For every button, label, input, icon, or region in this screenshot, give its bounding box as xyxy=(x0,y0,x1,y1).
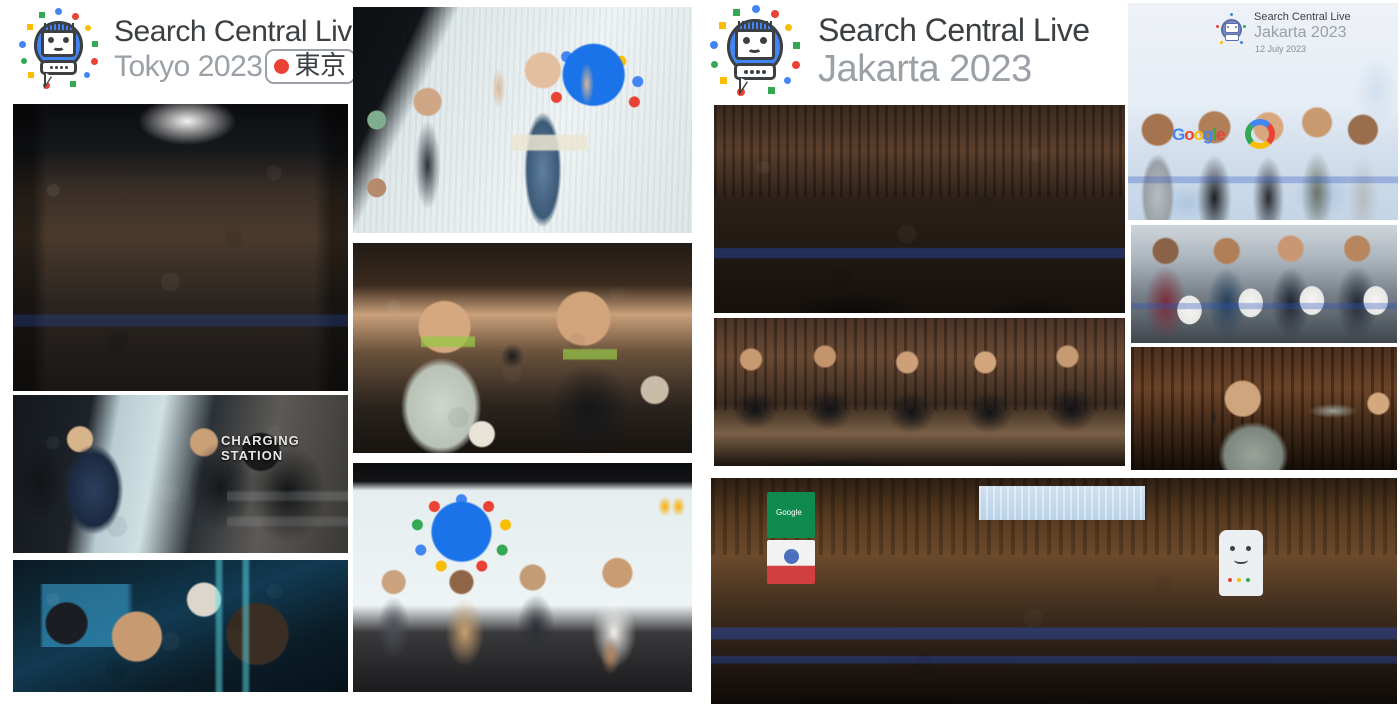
tokyo-title-line2-row: Tokyo 2023 東京 xyxy=(114,49,368,84)
jakarta-backdrop-date: 12 July 2023 xyxy=(1255,44,1306,54)
search-central-mascot-icon xyxy=(706,5,804,99)
japan-flag-dot-icon xyxy=(274,59,289,74)
tokyo-badge-label: 東京 xyxy=(294,52,345,80)
jakarta-audience-waving-photo xyxy=(714,105,1125,313)
jakarta-title-block: Search Central Live Jakarta 2023 xyxy=(818,14,1090,90)
tokyo-yukata-speaker-photo xyxy=(353,7,692,233)
tokyo-charging-station-photo: CHARGING STATION xyxy=(13,395,348,553)
tokyo-logo-lockup: Search Central Live Tokyo 2023 東京 xyxy=(14,8,354,92)
tokyo-japanese-badge: 東京 xyxy=(265,49,356,84)
jakarta-title-line2: Jakarta 2023 xyxy=(818,49,1090,90)
jakarta-audience-question-photo xyxy=(1131,347,1397,470)
jakarta-photobooth-group-photo: Search Central Live Jakarta 2023 12 July… xyxy=(1128,3,1398,220)
collage-banner: Search Central Live Tokyo 2023 東京 CHARGI… xyxy=(0,0,1400,704)
tokyo-networking-drinks-photo xyxy=(13,560,348,692)
tokyo-panel-discussion-photo xyxy=(353,463,692,692)
jakarta-title-line1: Search Central Live xyxy=(818,14,1090,48)
tokyo-audience-group-photo xyxy=(13,104,348,391)
jakarta-tote-bags-photo xyxy=(1131,225,1397,343)
jakarta-logo-lockup: Search Central Live Jakarta 2023 xyxy=(706,4,1086,100)
tokyo-heart-hands-attendees-photo xyxy=(353,243,692,453)
jakarta-backdrop-branding: Search Central Live Jakarta 2023 12 July… xyxy=(1214,9,1384,57)
tokyo-title-block: Search Central Live Tokyo 2023 東京 xyxy=(114,16,368,85)
jakarta-full-group-photo: Google xyxy=(711,478,1397,704)
jakarta-backdrop-title-line1: Search Central Live xyxy=(1254,11,1351,23)
tokyo-title-line1: Search Central Live xyxy=(114,16,368,48)
tokyo-title-line2: Tokyo 2023 xyxy=(114,51,262,83)
jakarta-panel-discussion-photo xyxy=(714,318,1125,466)
search-central-mascot-icon xyxy=(14,8,102,92)
jakarta-backdrop-title-line2: Jakarta 2023 xyxy=(1254,24,1347,42)
